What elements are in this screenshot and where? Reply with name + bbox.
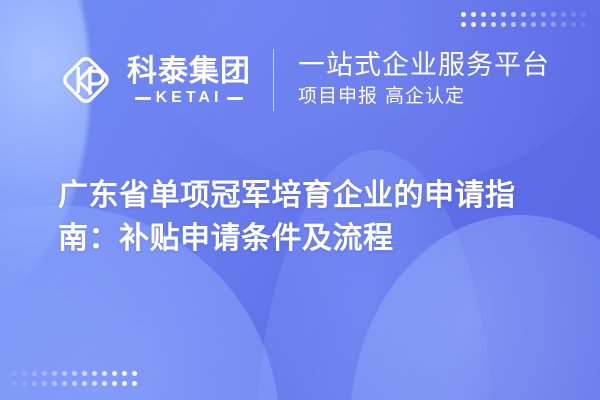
- dot-bottom-left-dot: [42, 371, 47, 376]
- brand-name-en-row: KETAI: [135, 90, 244, 106]
- dot-bottom-left-row: [12, 371, 137, 376]
- dot-top-right-dot: [481, 12, 486, 17]
- dot-bottom-left-dot: [12, 371, 17, 376]
- dot-top-right-dot: [481, 22, 486, 27]
- dot-bottom-left-row: [12, 381, 137, 386]
- dot-bottom-left-dot: [112, 381, 117, 386]
- dot-top-right-dot: [521, 12, 526, 17]
- dot-top-right-dot: [541, 12, 546, 17]
- dot-top-right-dot: [581, 12, 586, 17]
- dot-grid-bottom-left: [12, 371, 137, 386]
- dot-bottom-left-dot: [92, 371, 97, 376]
- dot-top-right-dot: [491, 12, 496, 17]
- dot-top-right-row: [461, 12, 586, 17]
- dot-top-right-dot: [501, 12, 506, 17]
- header-divider: [273, 49, 274, 111]
- dot-bottom-left-dot: [62, 381, 67, 386]
- dot-top-right-dot: [531, 12, 536, 17]
- dot-top-right-dot: [511, 22, 516, 27]
- dot-top-right-dot: [571, 12, 576, 17]
- dot-bottom-left-dot: [132, 381, 137, 386]
- dot-top-right-dot: [571, 22, 576, 27]
- dot-top-right-dot: [501, 22, 506, 27]
- page-title: 广东省单项冠军培育企业的申请指南：补贴申请条件及流程: [58, 175, 558, 260]
- dot-top-right-dot: [491, 22, 496, 27]
- brand-name-cn: 科泰集团: [127, 56, 251, 88]
- brand-wordmark: 科泰集团 KETAI: [127, 56, 251, 107]
- dot-top-right-dot: [581, 22, 586, 27]
- dash-left-icon: [135, 97, 151, 100]
- dot-top-right-row: [461, 22, 586, 27]
- dot-bottom-left-dot: [112, 371, 117, 376]
- dot-top-right-dot: [551, 22, 556, 27]
- promo-banner: 科泰集团 KETAI 一站式企业服务平台 项目申报 高企认定 广东省单项冠军培育…: [0, 0, 600, 400]
- ketai-diamond-kp-monogram-icon: [55, 49, 117, 111]
- dot-bottom-left-dot: [82, 381, 87, 386]
- dot-top-right-dot: [551, 12, 556, 17]
- brand-logo[interactable]: 科泰集团 KETAI: [55, 49, 251, 111]
- dot-bottom-left-dot: [102, 381, 107, 386]
- dot-bottom-left-dot: [92, 381, 97, 386]
- dot-bottom-left-dot: [132, 371, 137, 376]
- dot-top-right-dot: [471, 22, 476, 27]
- dot-top-right-dot: [521, 22, 526, 27]
- dot-top-right-dot: [561, 12, 566, 17]
- dot-top-right-dot: [461, 22, 466, 27]
- dot-grid-top-right: [461, 12, 586, 27]
- dot-bottom-left-dot: [52, 371, 57, 376]
- dot-bottom-left-dot: [32, 381, 37, 386]
- slogan-block: 一站式企业服务平台 项目申报 高企认定: [298, 50, 550, 110]
- dot-top-right-dot: [461, 12, 466, 17]
- dot-bottom-left-dot: [72, 371, 77, 376]
- dot-top-right-dot: [541, 22, 546, 27]
- slogan-secondary: 项目申报 高企认定: [298, 84, 550, 110]
- dot-bottom-left-dot: [62, 371, 67, 376]
- dot-top-right-dot: [531, 22, 536, 27]
- dot-bottom-left-dot: [12, 381, 17, 386]
- dot-bottom-left-dot: [102, 371, 107, 376]
- dot-bottom-left-dot: [52, 381, 57, 386]
- dot-bottom-left-dot: [72, 381, 77, 386]
- dot-bottom-left-dot: [32, 371, 37, 376]
- dot-bottom-left-dot: [22, 371, 27, 376]
- dot-bottom-left-dot: [122, 381, 127, 386]
- dot-top-right-dot: [561, 22, 566, 27]
- dot-bottom-left-dot: [22, 381, 27, 386]
- dot-top-right-dot: [511, 12, 516, 17]
- slogan-primary: 一站式企业服务平台: [298, 50, 550, 81]
- dot-bottom-left-dot: [122, 371, 127, 376]
- dot-top-right-dot: [471, 12, 476, 17]
- dot-bottom-left-dot: [42, 381, 47, 386]
- banner-header: 科泰集团 KETAI 一站式企业服务平台 项目申报 高企认定: [0, 40, 600, 120]
- dot-bottom-left-dot: [82, 371, 87, 376]
- dash-right-icon: [227, 97, 243, 100]
- brand-name-en: KETAI: [156, 90, 223, 106]
